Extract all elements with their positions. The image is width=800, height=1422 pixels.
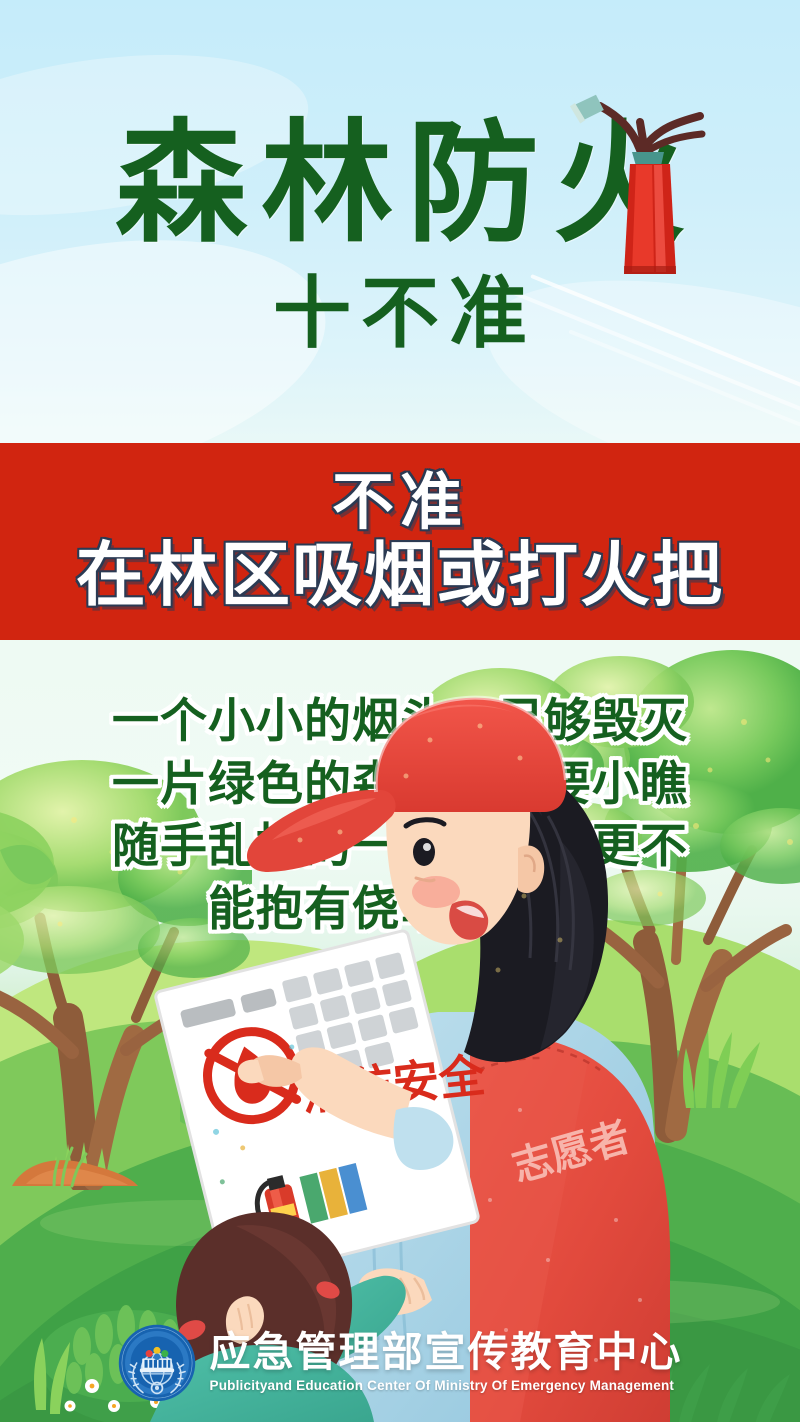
- forest-fire-prevention-poster: 森林防火 十不准 不准 在林区吸烟或打火把: [0, 0, 800, 1422]
- prohibition-banner: 不准 在林区吸烟或打火把: [0, 443, 800, 640]
- banner-line-1: 不准: [332, 471, 468, 534]
- banner-line-2: 在林区吸烟或打火把: [76, 540, 724, 611]
- forest-scene: 一个小小的烟头，足够毁灭 一片绿色的森林，不要小瞧 随手乱扔的一个烟头，更不 能…: [0, 640, 800, 1422]
- footer-text-block: 应急管理部宣传教育中心 Publicityand Education Cente…: [210, 1331, 683, 1394]
- footer-org-en: Publicityand Education Center Of Ministr…: [210, 1378, 675, 1394]
- emergency-management-emblem: [118, 1324, 196, 1402]
- footer-credit: 应急管理部宣传教育中心 Publicityand Education Cente…: [0, 1324, 800, 1402]
- fire-extinguisher-icon: [566, 66, 726, 296]
- footer-org-cn: 应急管理部宣传教育中心: [210, 1331, 683, 1374]
- illustration-people: 志愿者: [0, 640, 800, 1422]
